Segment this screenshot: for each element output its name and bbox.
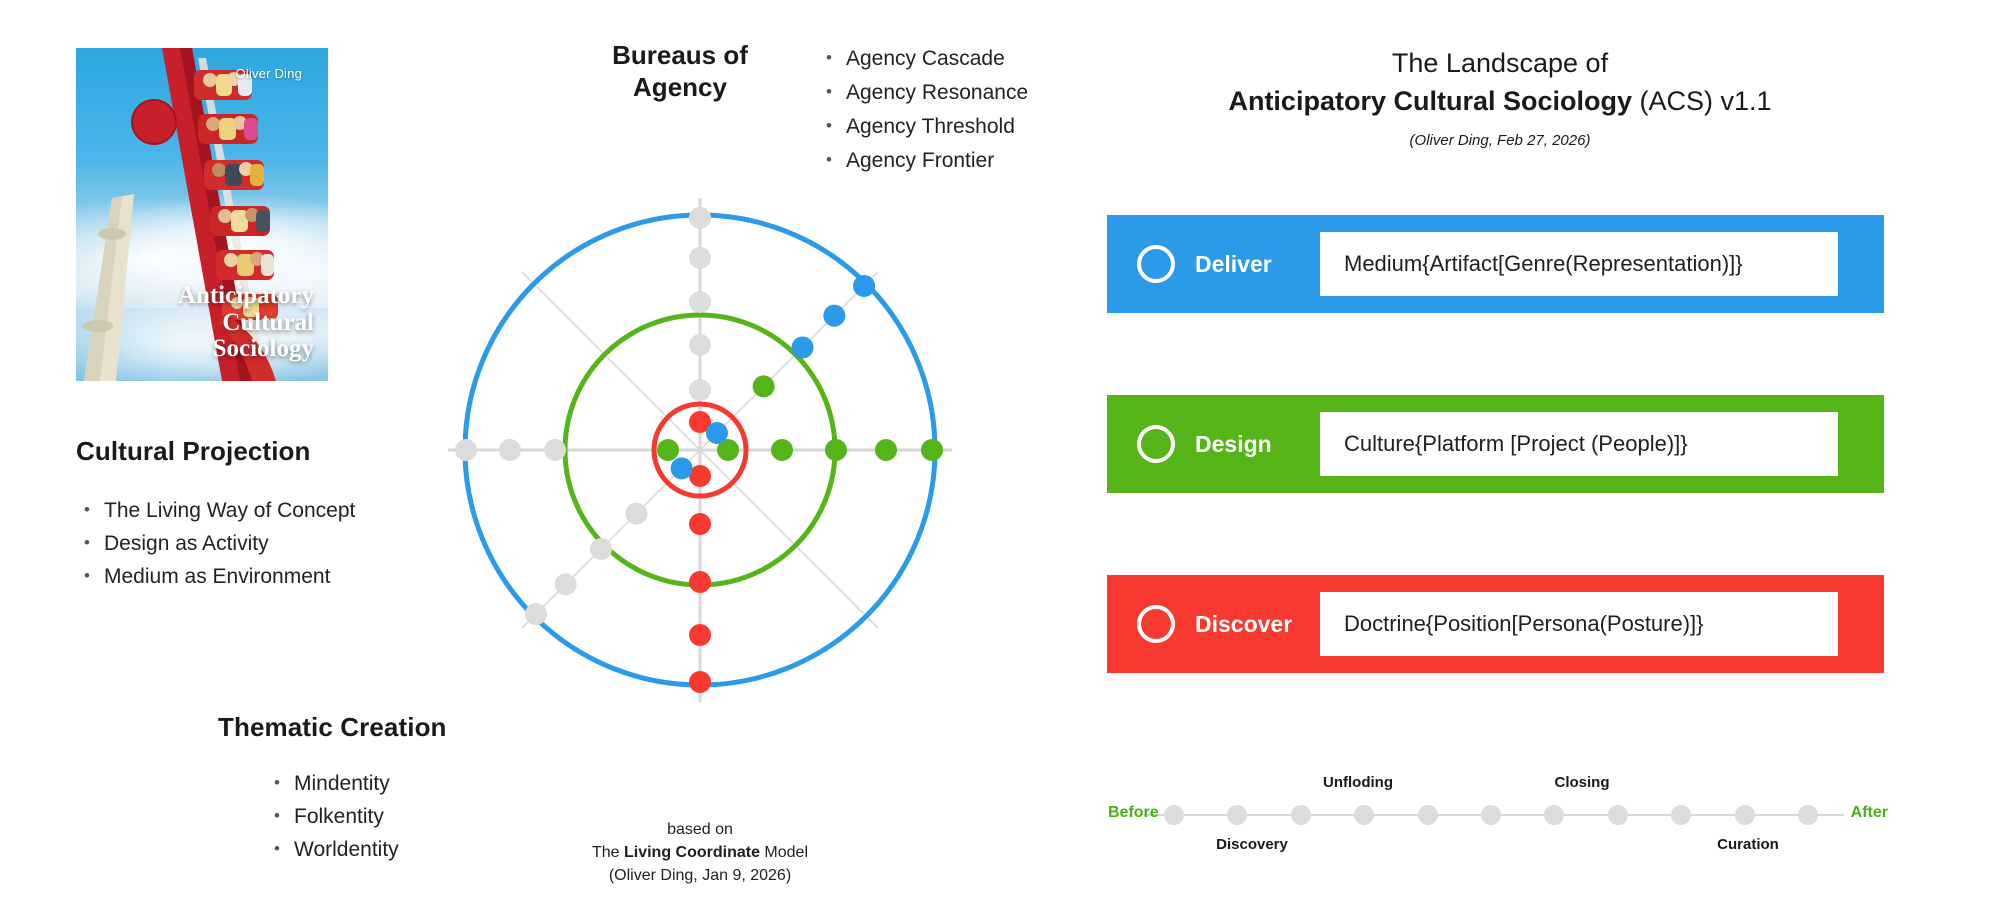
list-item: The Living Way of Concept (78, 494, 355, 527)
list-item: Worldentity (268, 833, 399, 866)
title-byline: (Oliver Ding, Feb 27, 2026) (1100, 132, 1900, 149)
timeline-node[interactable] (1418, 805, 1438, 825)
acs-row-design[interactable]: Design Culture{Platform [Project (People… (1107, 395, 1884, 493)
timeline-node[interactable] (1671, 805, 1691, 825)
circle-icon (1137, 605, 1175, 643)
cultural-projection-heading: Cultural Projection (76, 436, 310, 467)
caption-pre: The (592, 844, 624, 861)
list-item: Folkentity (268, 800, 399, 833)
book-cover: Oliver Ding Anticipatory Cultural Sociol… (76, 48, 328, 381)
data-point-green (825, 439, 847, 461)
heading-line: Bureaus of (580, 40, 780, 72)
data-point-gray (689, 334, 711, 356)
list-item: Medium as Environment (78, 560, 355, 593)
timeline-phase-discovery: Discovery (1216, 836, 1288, 853)
timeline-phase-curation: Curation (1717, 836, 1779, 853)
process-timeline: Before After Unfloding Closing Discovery… (1108, 770, 1888, 890)
data-point-gray (499, 439, 521, 461)
list-item: Design as Activity (78, 527, 355, 560)
diagram-caption: based on The Living Coordinate Model (Ol… (560, 818, 840, 887)
bureaus-of-agency-heading: Bureaus of Agency (580, 40, 780, 103)
title-tail: (ACS) v1.1 (1632, 86, 1772, 116)
heading-line: Agency (580, 72, 780, 104)
timeline-end-label: After (1851, 804, 1888, 822)
living-coordinate-diagram (370, 120, 1030, 780)
cover-title: Anticipatory Cultural Sociology (76, 283, 314, 363)
cover-author: Oliver Ding (236, 66, 303, 81)
data-point-green (771, 439, 793, 461)
data-point-gray (689, 247, 711, 269)
data-point-blue (823, 305, 845, 327)
data-point-gray (590, 538, 612, 560)
timeline-node[interactable] (1798, 805, 1818, 825)
data-point-gray (544, 439, 566, 461)
timeline-node[interactable] (1291, 805, 1311, 825)
data-point-green (657, 439, 679, 461)
data-point-gray (689, 379, 711, 401)
timeline-start-label: Before (1108, 804, 1159, 822)
title-bold: Anticipatory Cultural Sociology (1228, 86, 1632, 116)
acs-row-formula: Culture{Platform [Project (People)]} (1320, 412, 1838, 476)
thematic-creation-list: Mindentity Folkentity Worldentity (268, 767, 399, 866)
circle-icon (1137, 245, 1175, 283)
caption-line: based on (560, 818, 840, 841)
data-point-blue (853, 275, 875, 297)
data-point-blue (671, 457, 693, 479)
data-point-green (753, 375, 775, 397)
cover-title-line: Cultural (76, 310, 314, 337)
slide-canvas: Oliver Ding Anticipatory Cultural Sociol… (0, 0, 2000, 924)
data-point-red (689, 624, 711, 646)
data-point-blue (792, 336, 814, 358)
acs-row-formula: Doctrine{Position[Persona(Posture)]} (1320, 592, 1838, 656)
caption-post: Model (760, 844, 808, 861)
data-point-gray (455, 439, 477, 461)
cover-title-line: Anticipatory (76, 283, 314, 310)
data-point-gray (625, 503, 647, 525)
data-point-gray (689, 291, 711, 313)
caption-line: The Living Coordinate Model (560, 841, 840, 864)
list-item: Agency Cascade (820, 42, 1028, 76)
data-point-green (921, 439, 943, 461)
caption-bold: Living Coordinate (624, 844, 760, 861)
title-line-1: The Landscape of (1100, 44, 1900, 82)
circle-icon (1137, 425, 1175, 463)
timeline-phase-closing: Closing (1555, 774, 1610, 791)
acs-row-discover[interactable]: Discover Doctrine{Position[Persona(Postu… (1107, 575, 1884, 673)
timeline-node[interactable] (1227, 805, 1247, 825)
caption-line: (Oliver Ding, Jan 9, 2026) (560, 864, 840, 887)
list-item: Agency Resonance (820, 76, 1028, 110)
acs-row-formula: Medium{Artifact[Genre(Representation)]} (1320, 232, 1838, 296)
title-line-2: Anticipatory Cultural Sociology (ACS) v1… (1100, 82, 1900, 120)
acs-row-label: Design (1195, 431, 1320, 458)
data-point-blue (706, 422, 728, 444)
timeline-node[interactable] (1544, 805, 1564, 825)
data-point-gray (555, 573, 577, 595)
timeline-node[interactable] (1164, 805, 1184, 825)
timeline-node[interactable] (1481, 805, 1501, 825)
cover-title-line: Sociology (76, 336, 314, 363)
data-point-gray (525, 603, 547, 625)
data-point-green (875, 439, 897, 461)
acs-row-deliver[interactable]: Deliver Medium{Artifact[Genre(Representa… (1107, 215, 1884, 313)
data-point-gray (689, 207, 711, 229)
acs-row-label: Discover (1195, 611, 1320, 638)
timeline-phase-unfolding: Unfloding (1323, 774, 1393, 791)
data-point-red (689, 513, 711, 535)
cultural-projection-list: The Living Way of Concept Design as Acti… (78, 494, 355, 593)
landscape-title: The Landscape of Anticipatory Cultural S… (1100, 44, 1900, 149)
timeline-node[interactable] (1354, 805, 1374, 825)
acs-row-label: Deliver (1195, 251, 1320, 278)
data-point-red (689, 571, 711, 593)
data-point-red (689, 671, 711, 693)
timeline-node[interactable] (1608, 805, 1628, 825)
timeline-node[interactable] (1735, 805, 1755, 825)
